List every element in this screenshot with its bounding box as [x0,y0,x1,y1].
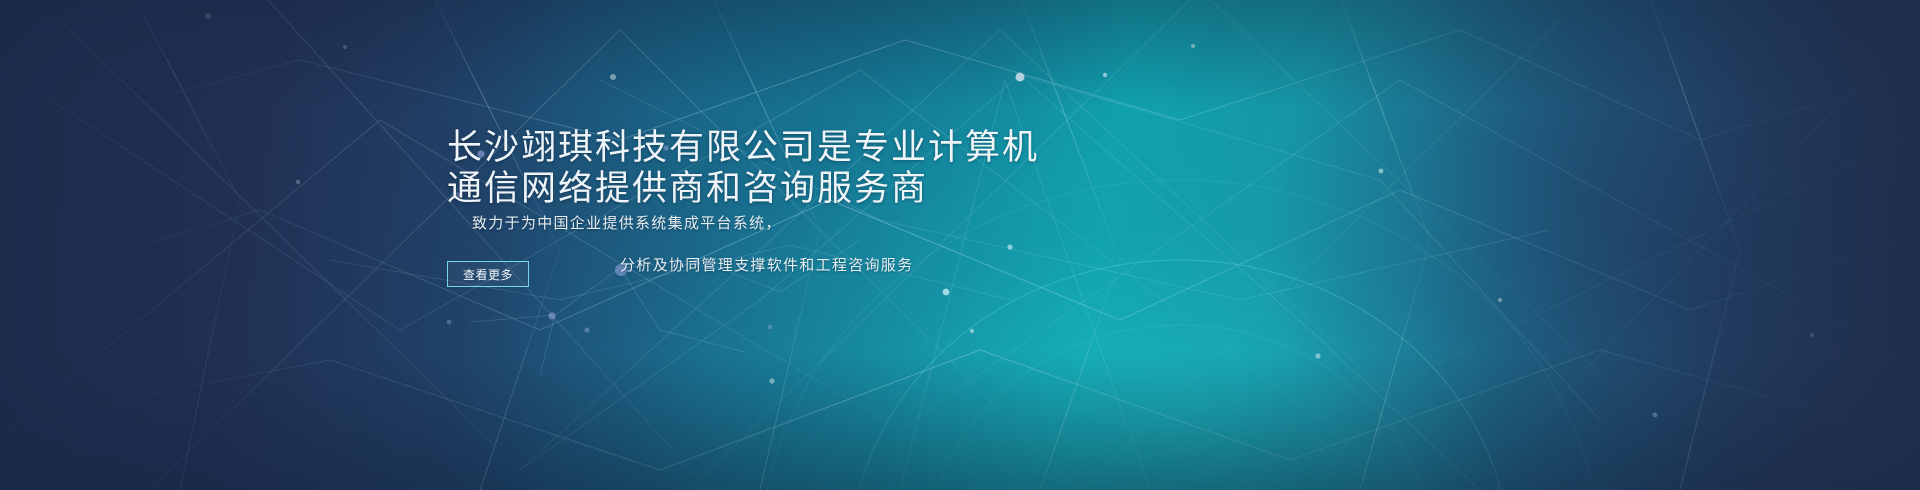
subtitle-line-2: 分析及协同管理支撑软件和工程咨询服务 [620,255,913,277]
headline-line-2: 通信网络提供商和咨询服务商 [447,168,1207,209]
hero-copy-block: 长沙翊琪科技有限公司是专业计算机 通信网络提供商和咨询服务商 致力于为中国企业提… [0,0,1920,490]
headline: 长沙翊琪科技有限公司是专业计算机 通信网络提供商和咨询服务商 [447,127,1207,209]
headline-line-1: 长沙翊琪科技有限公司是专业计算机 [447,128,1039,167]
view-more-button[interactable]: 查看更多 [447,261,529,287]
hero-banner: 长沙翊琪科技有限公司是专业计算机 通信网络提供商和咨询服务商 致力于为中国企业提… [0,0,1920,490]
subtitle-line-1: 致力于为中国企业提供系统集成平台系统， [472,213,782,235]
